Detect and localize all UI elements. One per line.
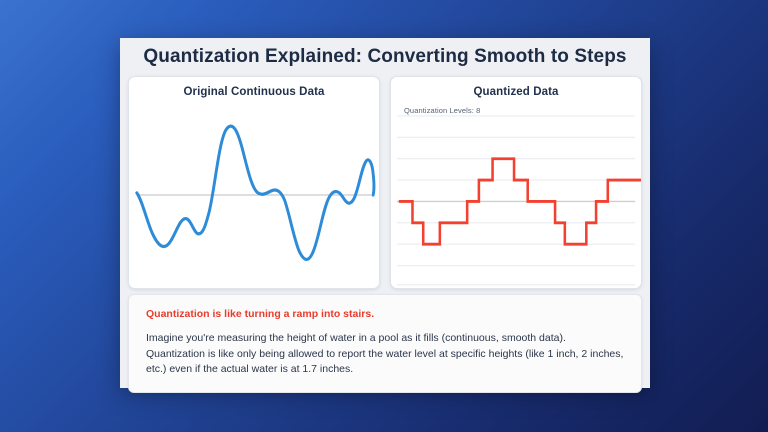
chart-panel-original: Original Continuous Data (128, 76, 380, 289)
quantization-card: Quantization Explained: Converting Smoot… (120, 38, 650, 388)
chart-title-original: Original Continuous Data (129, 77, 379, 98)
charts-row: Original Continuous Data Quantized Data … (120, 76, 650, 289)
quantized-step-chart (391, 101, 641, 288)
continuous-line-chart (129, 101, 379, 288)
explanation-note: Quantization is like turning a ramp into… (128, 294, 642, 393)
page-title: Quantization Explained: Converting Smoot… (120, 38, 650, 76)
note-heading: Quantization is like turning a ramp into… (146, 308, 624, 320)
chart-panel-quantized: Quantized Data Quantization Levels: 8 (390, 76, 642, 289)
note-body: Imagine you're measuring the height of w… (146, 331, 624, 378)
screen: Quantization Explained: Converting Smoot… (0, 0, 768, 432)
continuous-plot (129, 101, 379, 288)
quantized-plot (391, 101, 641, 288)
chart-title-quantized: Quantized Data (391, 77, 641, 98)
continuous-data-curve (137, 126, 374, 259)
